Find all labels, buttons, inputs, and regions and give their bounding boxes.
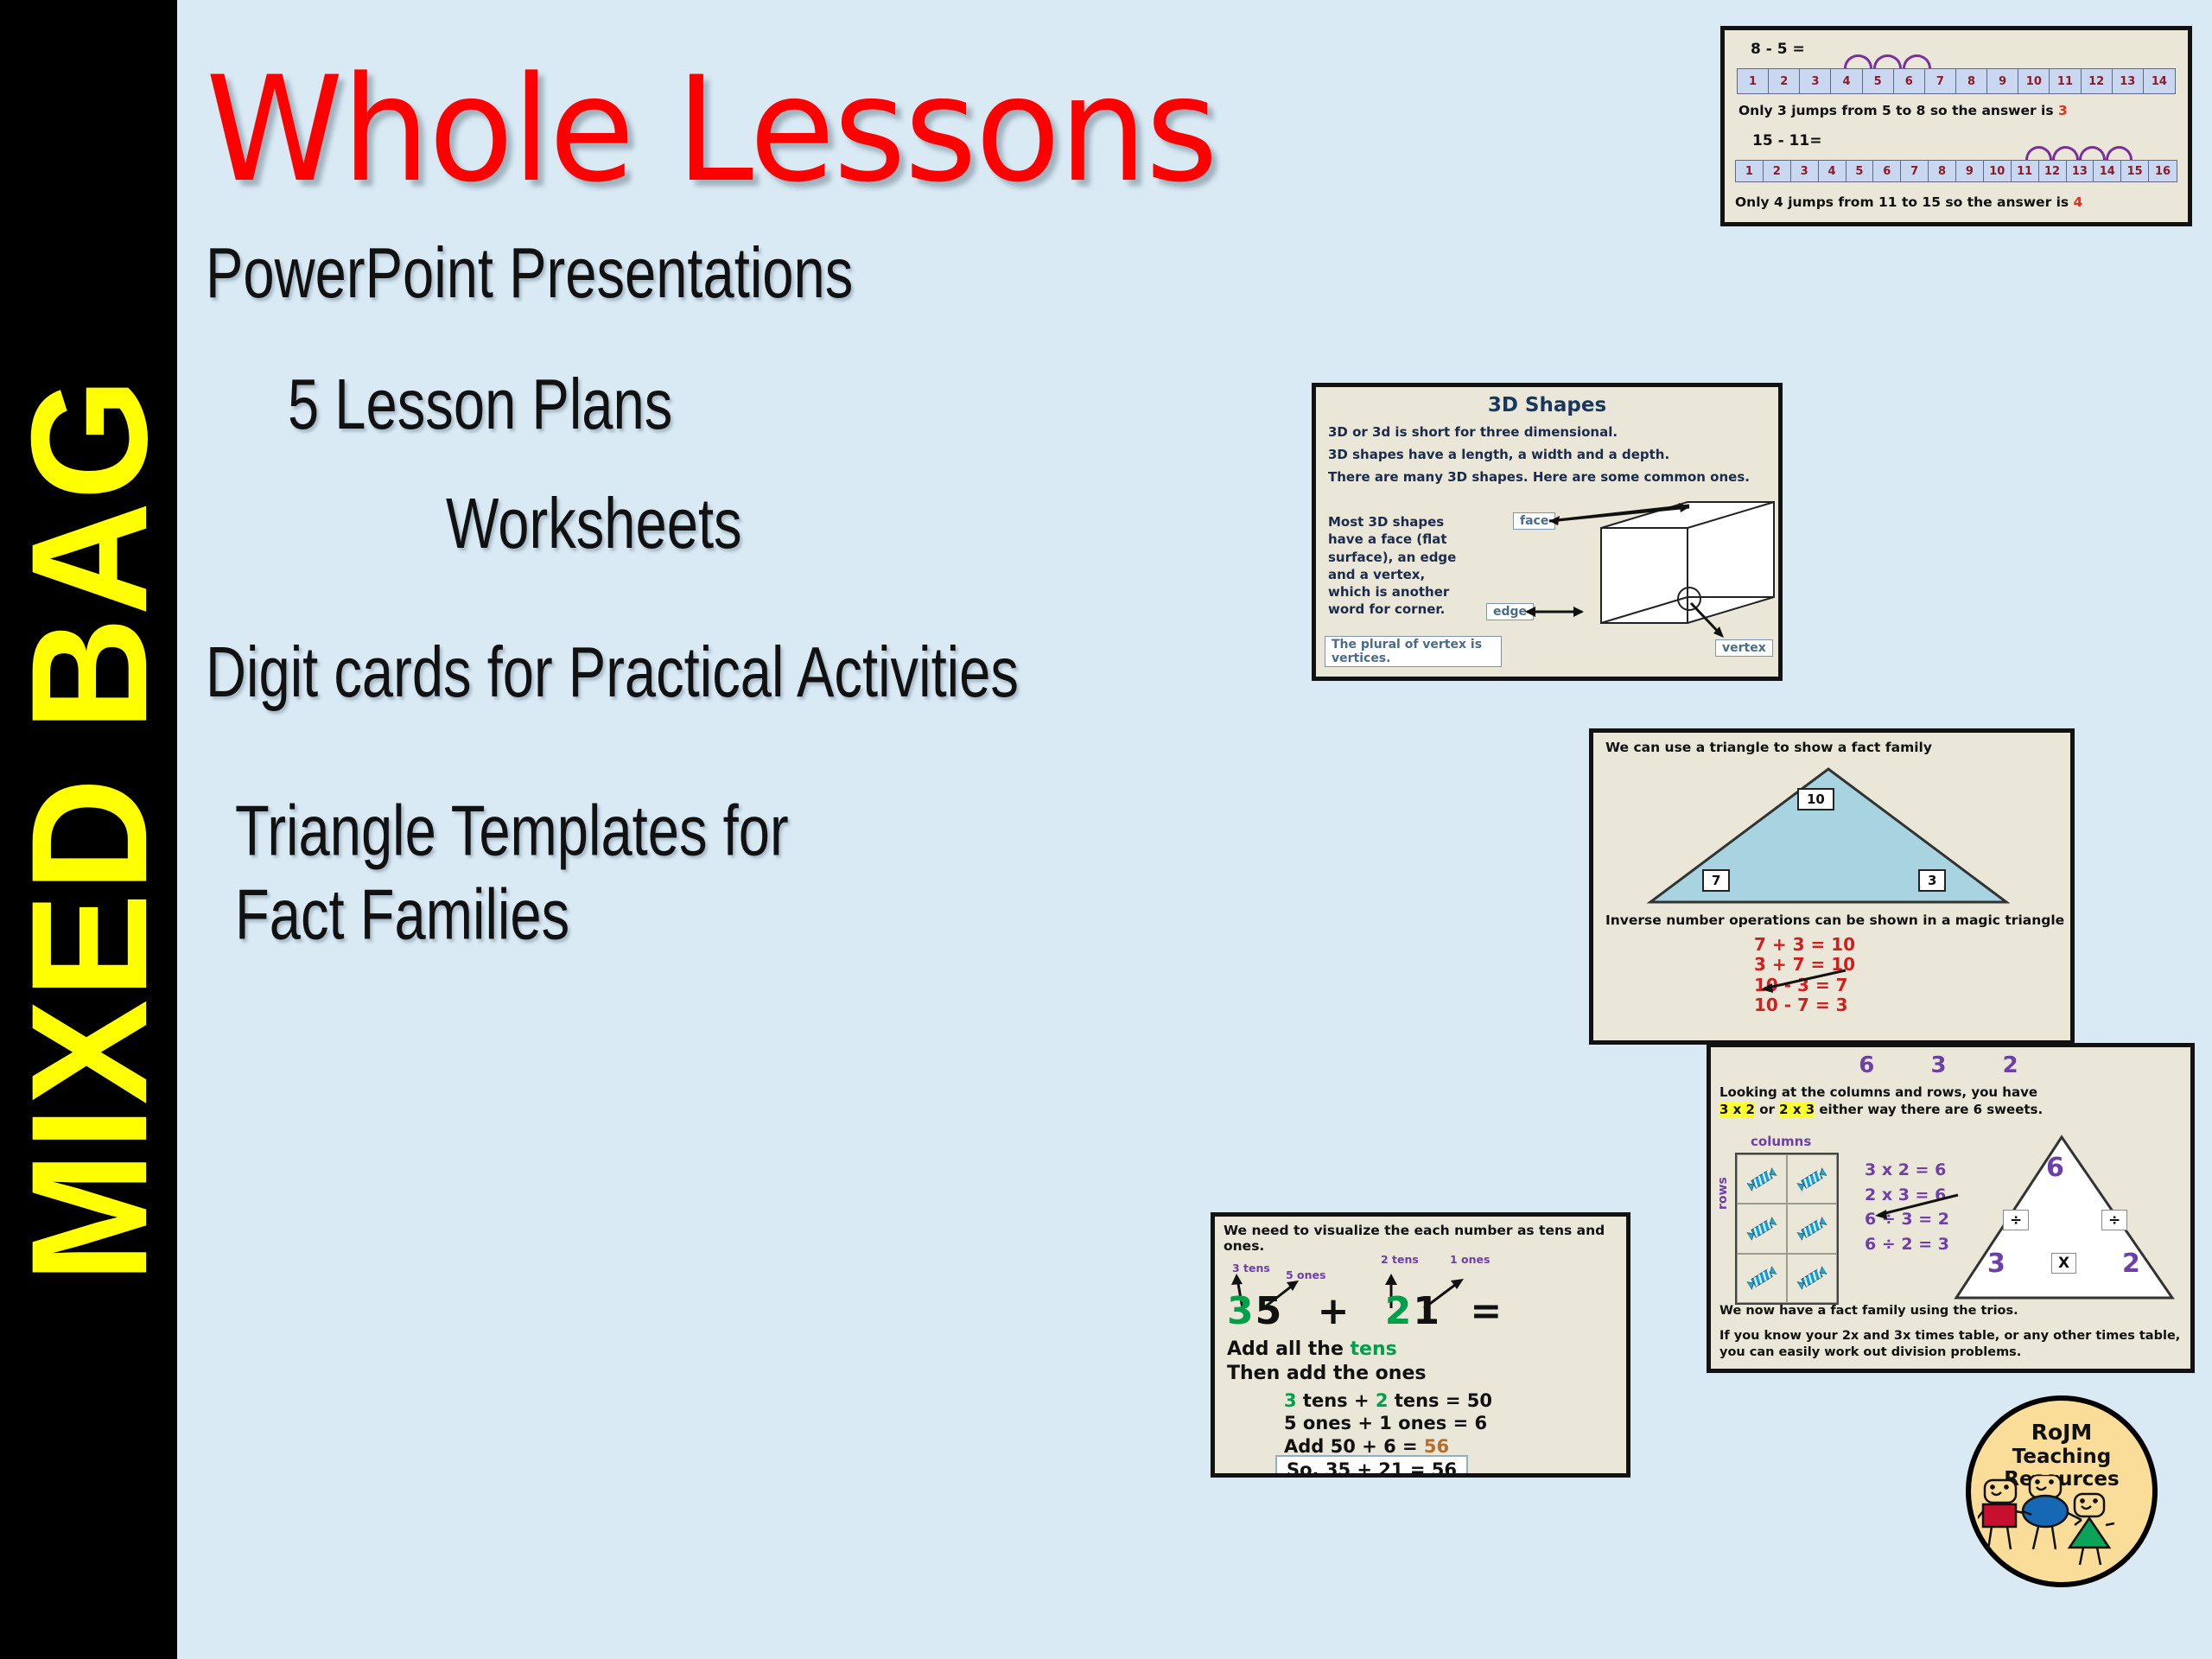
triangle-apex-value: 10	[1797, 788, 1834, 810]
mult-line: 6 ÷ 2 = 3	[1865, 1232, 1949, 1257]
calc-total-value: 56	[1424, 1436, 1449, 1457]
number-line-cell: 11	[2012, 161, 2039, 181]
sweet-icon	[1746, 1166, 1777, 1192]
card-3d-paragraph-3: There are many 3D shapes. Here are some …	[1328, 468, 1756, 486]
digit-3-tens: 3	[1227, 1289, 1255, 1333]
mtriangle-right-value: 2	[2122, 1249, 2140, 1279]
caption-text: Only 3 jumps from 5 to 8 so the answer i…	[1738, 103, 2058, 118]
vertex-plural-note: The plural of vertex is vertices.	[1325, 636, 1502, 667]
tensones-expression: 35 + 21 =	[1227, 1289, 1503, 1333]
rows-label: rows	[1716, 1177, 1730, 1210]
number-line-cell: 5	[1847, 161, 1874, 181]
numberline-caption-2: Only 4 jumps from 11 to 15 so the answer…	[1735, 194, 2082, 210]
intro-tail: either way there are 6 sweets.	[1815, 1102, 2043, 1117]
sweets-array-grid	[1735, 1153, 1839, 1305]
feature-worksheets: Worksheets	[446, 482, 742, 564]
number-line-cell: 13	[2067, 161, 2094, 181]
number-line-cell: 11	[2050, 69, 2081, 93]
tag-2-tens: 2 tens	[1381, 1253, 1419, 1266]
feature-powerpoint-presentations: PowerPoint Presentations	[206, 232, 853, 314]
page-title: Whole Lessons	[206, 45, 1217, 214]
calc-total-text: Add 50 + 6 =	[1284, 1436, 1424, 1457]
number-line-cell: 3	[1800, 69, 1831, 93]
jump-arc-icon	[2025, 146, 2052, 160]
highlight-3x2: 3 x 2	[1719, 1102, 1755, 1117]
jump-arc-icon	[1844, 54, 1872, 68]
brand-logo: RoJM Teaching Resources	[1966, 1395, 2158, 1587]
jump-arc-icon	[2106, 146, 2133, 160]
calc-c: 2	[1376, 1390, 1389, 1411]
tensones-result-box: So, 35 + 21 = 56	[1275, 1455, 1468, 1478]
mtriangle-divide-right-icon: ÷	[2101, 1210, 2127, 1230]
plus-sign: +	[1299, 1289, 1370, 1333]
card-3d-title: 3D Shapes	[1316, 394, 1778, 416]
calc-d: tens = 50	[1389, 1390, 1492, 1411]
sweet-cell	[1787, 1204, 1837, 1253]
triangle-right-value: 3	[1918, 869, 1946, 892]
logo-line-1: RoJM	[1971, 1420, 2152, 1445]
digit-1-ones: 1	[1413, 1289, 1441, 1333]
step-text: Add all the	[1227, 1338, 1351, 1360]
number-line-cell: 6	[1894, 69, 1925, 93]
footer-line-2: If you know your 2x and 3x times table, …	[1719, 1328, 2190, 1362]
sweet-icon	[1796, 1216, 1827, 1242]
inverse-link-arrow-icon	[1868, 1192, 1963, 1220]
worksheet-card-tens-and-ones: We need to visualize the each number as …	[1211, 1212, 1630, 1478]
sweet-cell	[1787, 1254, 1837, 1303]
worksheet-card-number-line: 8 - 5 = 1234567891011121314 Only 3 jumps…	[1720, 26, 2192, 226]
triangle-outline-shape	[1953, 1134, 2176, 1302]
number-line-cell: 1	[1738, 69, 1769, 93]
number-line-cell: 8	[1929, 161, 1956, 181]
card-3d-paragraph-2: 3D shapes have a length, a width and a d…	[1328, 446, 1760, 463]
worksheet-card-3d-shapes: 3D Shapes 3D or 3d is short for three di…	[1312, 383, 1783, 681]
number-line-cell: 13	[2113, 69, 2144, 93]
trio-numbers: 6 3 2	[1711, 1052, 2190, 1078]
sweet-icon	[1746, 1216, 1777, 1242]
number-line-cell: 9	[1987, 69, 2018, 93]
number-line-row-2: 12345678910111213141516	[1735, 160, 2177, 182]
number-line-cell: 6	[1873, 161, 1901, 181]
numberline-caption-1: Only 3 jumps from 5 to 8 so the answer i…	[1738, 103, 2068, 118]
mtriangle-left-value: 3	[1987, 1249, 2005, 1279]
number-line-cell: 14	[2144, 69, 2175, 93]
inverse-link-arrow-icon	[1756, 968, 1851, 994]
step-add-ones: Then add the ones	[1227, 1362, 1426, 1386]
number-line-cell: 4	[1819, 161, 1847, 181]
stick-figures-icon	[1978, 1475, 2151, 1572]
intro-line: Looking at the columns and rows, you hav…	[1719, 1084, 2037, 1100]
edge-arrow-icon	[1525, 602, 1586, 621]
tensones-calculations: 3 tens + 2 tens = 50 5 ones + 1 ones = 6…	[1284, 1389, 1492, 1458]
caption-text: Only 4 jumps from 11 to 15 so the answer…	[1735, 194, 2074, 210]
number-line-cell: 12	[2039, 161, 2067, 181]
multiplication-footer: We now have a fact family using the trio…	[1719, 1303, 2190, 1362]
feature-triangle-templates: Triangle Templates for Fact Families	[235, 788, 789, 957]
number-line-cell: 12	[2082, 69, 2113, 93]
face-arrow-icon	[1544, 502, 1691, 530]
calc-b: tens +	[1297, 1390, 1376, 1411]
calc-a: 3	[1284, 1390, 1297, 1411]
step-add-tens: Add all the tens	[1227, 1338, 1426, 1362]
number-line-cell: 9	[1956, 161, 1984, 181]
mtriangle-top-value: 6	[2046, 1153, 2064, 1183]
jump-arc-icon	[2079, 146, 2106, 160]
sweet-icon	[1796, 1265, 1827, 1291]
mult-line: 3 x 2 = 6	[1865, 1158, 1949, 1183]
worksheet-card-multiplication-trio: 6 3 2 Looking at the columns and rows, y…	[1707, 1043, 2195, 1373]
factfamily-subtext: Inverse number operations can be shown i…	[1605, 912, 2064, 928]
number-line-cell: 3	[1791, 161, 1819, 181]
conjunction: or	[1755, 1102, 1779, 1117]
jump-arc-icon	[2052, 146, 2079, 160]
numberline-equation-1: 8 - 5 =	[1751, 41, 1805, 58]
sidebar-band: MIXED BAG	[0, 0, 177, 1659]
fact-line: 10 - 7 = 3	[1754, 995, 1855, 1015]
number-line-cell: 7	[1925, 69, 1956, 93]
sweet-cell	[1737, 1204, 1787, 1253]
caption-answer: 3	[2058, 103, 2068, 118]
tag-1-ones: 1 ones	[1450, 1253, 1490, 1266]
fact-family-triangle-shape	[1647, 766, 2010, 906]
caption-answer: 4	[2074, 194, 2083, 210]
sweet-icon	[1746, 1265, 1777, 1291]
feature-lesson-plans: 5 Lesson Plans	[288, 363, 672, 445]
jump-arc-icon	[1903, 54, 1931, 68]
digit-5-ones: 5	[1255, 1289, 1284, 1333]
sidebar-title: MIXED BAG	[6, 376, 171, 1282]
footer-line-1: We now have a fact family using the trio…	[1719, 1303, 2190, 1320]
number-line-cell: 2	[1769, 69, 1800, 93]
feature-digit-cards: Digit cards for Practical Activities	[206, 631, 1019, 713]
number-line-cell: 2	[1764, 161, 1791, 181]
highlight-2x3: 2 x 3	[1779, 1102, 1815, 1117]
mtriangle-multiply-icon: X	[2051, 1253, 2076, 1274]
number-line-cell: 1	[1736, 161, 1764, 181]
number-line-cell: 10	[2018, 69, 2050, 93]
sweet-icon	[1796, 1166, 1827, 1192]
multiplication-intro: Looking at the columns and rows, you hav…	[1719, 1084, 2043, 1119]
mtriangle-divide-left-icon: ÷	[2003, 1210, 2029, 1230]
calc-tens: 3 tens + 2 tens = 50	[1284, 1389, 1492, 1412]
sweet-cell	[1737, 1154, 1787, 1204]
fact-line: 7 + 3 = 10	[1754, 935, 1855, 955]
slide-canvas: MIXED BAG Whole Lessons PowerPoint Prese…	[0, 0, 2212, 1659]
sidebar-rotated-wrapper: MIXED BAG	[0, 0, 177, 1659]
number-line-cell: 15	[2121, 161, 2149, 181]
sweet-cell	[1787, 1154, 1837, 1204]
tensones-intro: We need to visualize the each number as …	[1224, 1223, 1626, 1254]
number-line-cell: 5	[1863, 69, 1894, 93]
number-line-cell: 14	[2094, 161, 2121, 181]
number-line-cell: 4	[1831, 69, 1862, 93]
equals-sign: =	[1456, 1289, 1503, 1333]
columns-label: columns	[1751, 1134, 1811, 1149]
calc-total: Add 50 + 6 = 56	[1284, 1435, 1492, 1458]
vertex-arrow-icon	[1689, 601, 1728, 643]
number-line-cell: 10	[1984, 161, 2012, 181]
factfamily-intro: We can use a triangle to show a fact fam…	[1605, 740, 1932, 755]
sweet-cell	[1737, 1254, 1787, 1303]
numberline-equation-2: 15 - 11=	[1752, 132, 1821, 149]
number-line-cell: 8	[1956, 69, 1987, 93]
triangle-left-value: 7	[1702, 869, 1730, 892]
number-line-cell: 16	[2149, 161, 2177, 181]
multiplication-triangle: 6 3 2 ÷ ÷ X	[1953, 1134, 2176, 1302]
jump-arc-icon	[1873, 54, 1902, 68]
card-3d-paragraph-1: 3D or 3d is short for three dimensional.	[1328, 423, 1760, 441]
card-3d-paragraph-4: Most 3D shapes have a face (flat surface…	[1328, 513, 1466, 619]
digit-2-tens: 2	[1385, 1289, 1414, 1333]
number-line-row-1: 1234567891011121314	[1737, 68, 2176, 94]
number-line-cell: 7	[1901, 161, 1929, 181]
tensones-steps: Add all the tens Then add the ones	[1227, 1338, 1426, 1386]
worksheet-card-fact-family: We can use a triangle to show a fact fam…	[1589, 728, 2075, 1045]
step-tens-word: tens	[1351, 1338, 1397, 1360]
calc-ones: 5 ones + 1 ones = 6	[1284, 1412, 1492, 1434]
